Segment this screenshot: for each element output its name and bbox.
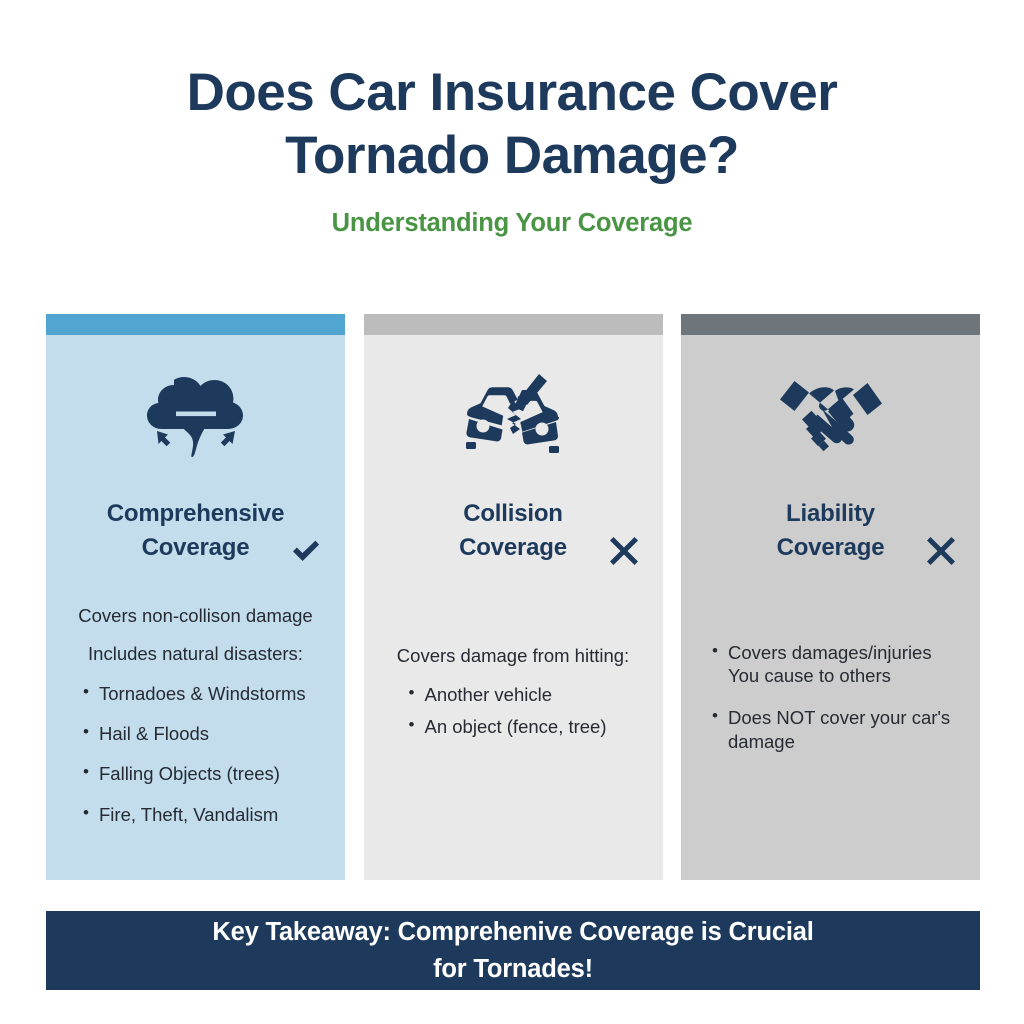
card-title-line-1: Liability	[786, 500, 875, 527]
key-takeaway-banner: Key Takeaway: Comprehenive Coverage is C…	[46, 911, 980, 990]
card-title-collision: Collision Coverage	[459, 497, 567, 565]
coverage-card-liability[interactable]: Liability Coverage Covers damages/injuri…	[681, 314, 980, 880]
card-lead-text: Covers damage from hitting:	[380, 647, 647, 666]
infographic-canvas: Does Car Insurance Cover Tornado Damage?…	[0, 0, 1024, 1024]
coverage-card-row: Comprehensive Coverage Covers non-collis…	[46, 314, 980, 880]
card-title-line-1: Comprehensive	[107, 500, 284, 527]
page-subtitle: Understanding Your Coverage	[0, 187, 1024, 238]
card-title-line-2: Coverage	[142, 534, 250, 561]
list-item: Hail & Floods	[80, 722, 329, 745]
card-bullet-list: Another vehicle An object (fence, tree)	[380, 683, 647, 738]
cross-icon	[607, 534, 641, 568]
list-item: Falling Objects (trees)	[80, 762, 329, 785]
car-collision-icon	[458, 367, 568, 459]
card-heading-row: Collision Coverage	[364, 497, 663, 565]
page-title-line-1: Does Car Insurance Cover	[187, 63, 838, 122]
coverage-card-comprehensive[interactable]: Comprehensive Coverage Covers non-collis…	[46, 314, 345, 880]
card-bullet-list: Tornadoes & Windstorms Hail & Floods Fal…	[62, 682, 329, 826]
list-item: Fire, Theft, Vandalism	[80, 803, 329, 826]
card-title-line-2: Coverage	[777, 534, 885, 561]
list-item: Does NOT cover your car's damage	[709, 706, 964, 752]
key-takeaway-line-2: for Tornades!	[433, 955, 593, 983]
card-title-liability: Liability Coverage	[777, 497, 885, 565]
card-lead-text-2: Includes natural disasters:	[62, 645, 329, 664]
list-item: Another vehicle	[406, 683, 647, 706]
card-body-liability: Covers damages/injuries You cause to oth…	[681, 641, 980, 772]
card-lead-text: Covers non-collison damage	[62, 607, 329, 626]
list-item: Tornadoes & Windstorms	[80, 682, 329, 705]
check-icon	[289, 534, 323, 568]
coverage-card-collision[interactable]: Collision Coverage Covers damage from hi…	[364, 314, 663, 880]
card-title-line-2: Coverage	[459, 534, 567, 561]
key-takeaway-text: Key Takeaway: Comprehenive Coverage is C…	[188, 914, 837, 986]
tornado-cloud-icon	[141, 367, 251, 459]
card-body-comprehensive: Covers non-collison damage Includes natu…	[46, 607, 345, 843]
list-item: An object (fence, tree)	[406, 715, 647, 738]
card-bullet-list: Covers damages/injuries You cause to oth…	[697, 641, 964, 753]
card-title-comprehensive: Comprehensive Coverage	[107, 497, 284, 565]
header: Does Car Insurance Cover Tornado Damage?…	[0, 62, 1024, 238]
cross-icon	[924, 534, 958, 568]
key-takeaway-line-1: Key Takeaway: Comprehenive Coverage is C…	[212, 918, 813, 946]
list-item: Covers damages/injuries You cause to oth…	[709, 641, 964, 687]
handshake-icon	[776, 367, 886, 459]
card-body-collision: Covers damage from hitting: Another vehi…	[364, 647, 663, 747]
page-title: Does Car Insurance Cover Tornado Damage?	[0, 62, 1024, 187]
card-heading-row: Comprehensive Coverage	[46, 497, 345, 565]
card-heading-row: Liability Coverage	[681, 497, 980, 565]
page-title-line-2: Tornado Damage?	[285, 126, 739, 185]
card-title-line-1: Collision	[463, 500, 563, 527]
